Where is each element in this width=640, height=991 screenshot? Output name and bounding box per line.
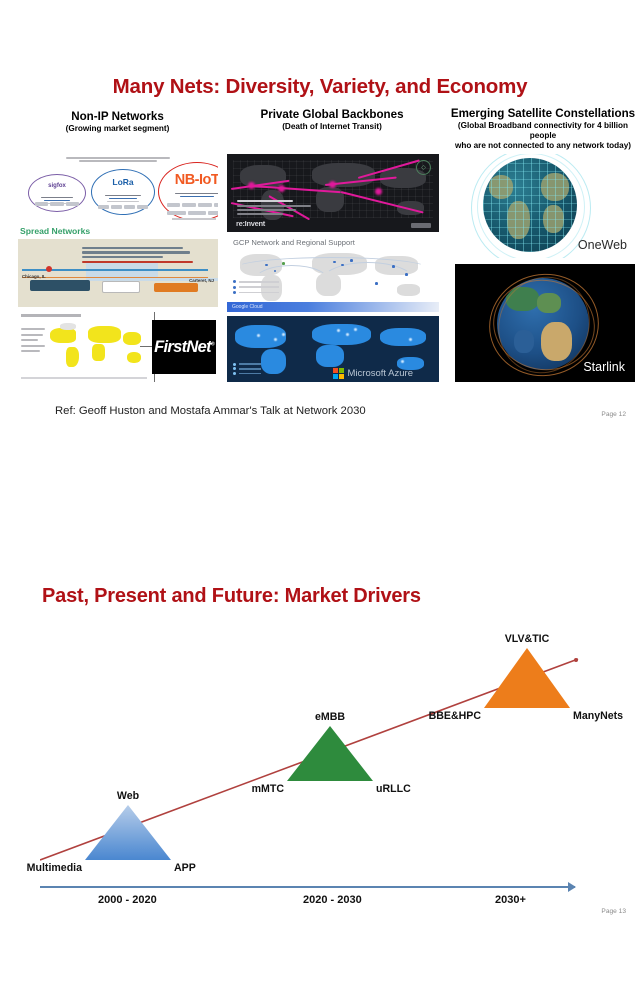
timeline-arrowhead-icon [568,882,576,892]
iot-ellipse-sigfox: sigfox [28,174,86,212]
spread-networks-title: Spread Networks [20,226,90,236]
era-bottom-left-label: Multimedia [27,862,82,874]
slide2-title: Past, Present and Future: Market Drivers [42,585,602,608]
timeline-line [40,886,575,888]
nbiot-stats [165,191,218,199]
iot-attribution [172,218,216,220]
nbiot-label: NB-IoT [159,172,218,188]
era-triangle-embb: eMBB mMTC uRLLC [287,726,373,781]
gcp-title: GCP Network and Regional Support [233,238,355,247]
oneweb-label: OneWeb [578,238,627,252]
iot-ellipse-nbiot: NB-IoT [158,162,218,220]
timeline-label-2030-plus: 2030+ [495,894,526,906]
image-iot-technologies: sigfox LoRa NB-IoT [18,156,218,220]
lora-label: LoRa [92,177,154,187]
image-global-coverage-map [18,313,150,381]
lora-operator-logos [98,205,148,209]
azure-wordmark: Microsoft Azure [348,368,413,379]
timeline-axis: 2000 - 2020 2020 - 2030 2030+ [40,882,575,892]
image-gcp-network: GCP Network and Regional Support Google … [227,234,439,312]
iot-ellipse-lora: LoRa [91,169,155,215]
page-number-slide2: Page 13 [601,908,626,915]
iot-source-caption [63,156,173,162]
oneweb-globe [483,158,577,252]
sigfox-label: sigfox [29,183,85,189]
aws-pop-node [329,181,336,188]
era-triangle-vlvtic: VLV&TIC BBE&HPC ManyNets [484,648,570,708]
era-apex-label: VLV&TIC [505,633,550,645]
timeline-label-2020-2030: 2020 - 2030 [303,894,362,906]
image-microsoft-azure-network: Microsoft Azure [227,316,439,382]
map-callout-distance [102,281,140,293]
sigfox-operator-logos [35,202,80,206]
era-apex-label: eMBB [315,711,345,723]
image-starlink-constellation: Starlink [455,264,635,382]
registered-mark: ® [211,341,214,347]
gcp-legend [233,278,279,296]
azure-brand: Microsoft Azure [333,368,413,379]
microwave-route-line [22,277,208,278]
slide1-title: Many Nets: Diversity, Variety, and Econo… [0,75,640,99]
coverage-map-legend [21,325,45,355]
aws-reinvent-brand: re:Invent [236,219,265,228]
triangle-shape-blue [85,805,171,860]
spread-networks-latency-table [82,244,194,265]
era-bottom-left-label: mMTC [252,783,284,795]
aws-caption-block [237,200,311,217]
aws-console-icon: ◇ [416,160,431,175]
aws-logo-mark [411,223,431,228]
image-oneweb-constellation: OneWeb [455,154,635,258]
firstnet-text: FirstNet [154,338,211,356]
timeline-label-2000-2020: 2000 - 2020 [98,894,157,906]
era-apex-label: Web [117,790,139,802]
column-heading-text: Emerging Satellite Constellations [448,107,638,121]
image-spread-networks: Spread Networks Chicago, IL Carteret, NJ [18,225,218,307]
page-number-slide1: Page 12 [601,411,626,418]
image-firstnet-logo: FirstNet® [152,320,216,374]
coverage-map-title [21,314,81,317]
lora-stats [97,193,149,204]
slide-many-nets: Many Nets: Diversity, Variety, and Econo… [0,0,640,440]
column-heading-text: Private Global Backbones [232,108,432,122]
spread-networks-map: Chicago, IL Carteret, NJ [18,239,218,307]
column-heading-non-ip: Non-IP Networks (Growing market segment) [30,110,205,134]
image-amazon-global-network: re:Invent ◇ [227,154,439,232]
nbiot-operator-logos-row2 [167,211,218,215]
column-heading-text: Non-IP Networks [30,110,205,124]
coverage-map-footnote [21,377,147,379]
firstnet-wordmark: FirstNet® [154,338,214,357]
triangle-shape-green [287,726,373,781]
azure-legend [233,361,261,377]
nbiot-operator-logos-row1 [167,203,218,207]
era-bottom-left-label: BBE&HPC [429,710,481,722]
era-bottom-right-label: ManyNets [573,710,623,722]
city-label-chicago: Chicago, IL [22,274,46,279]
aws-pop-node [278,185,285,192]
map-callout-right [154,283,198,293]
era-bottom-right-label: APP [174,862,196,874]
era-bottom-right-label: uRLLC [376,783,411,795]
starlink-label: Starlink [583,360,625,374]
column-subheading-text: (Death of Internet Transit) [232,122,432,132]
microsoft-logo-icon [333,368,344,379]
column-subheading-line2: who are not connected to any network tod… [448,141,638,151]
column-heading-satellite: Emerging Satellite Constellations (Globa… [448,107,638,151]
gcp-footer-bar: Google Cloud [227,302,439,312]
map-callout-left [30,280,90,291]
column-heading-backbones: Private Global Backbones (Death of Inter… [232,108,432,132]
reference-note: Ref: Geoff Huston and Mostafa Ammar's Ta… [55,405,366,417]
column-subheading-line1: (Global Broadband connectivity for 4 bil… [448,121,638,141]
column-subheading-text: (Growing market segment) [30,124,205,134]
coverage-map-graphic [48,321,147,371]
era-triangle-web: Web Multimedia APP [85,805,171,860]
gcp-brand-label: Google Cloud [232,304,263,310]
triangle-shape-orange [484,648,570,708]
